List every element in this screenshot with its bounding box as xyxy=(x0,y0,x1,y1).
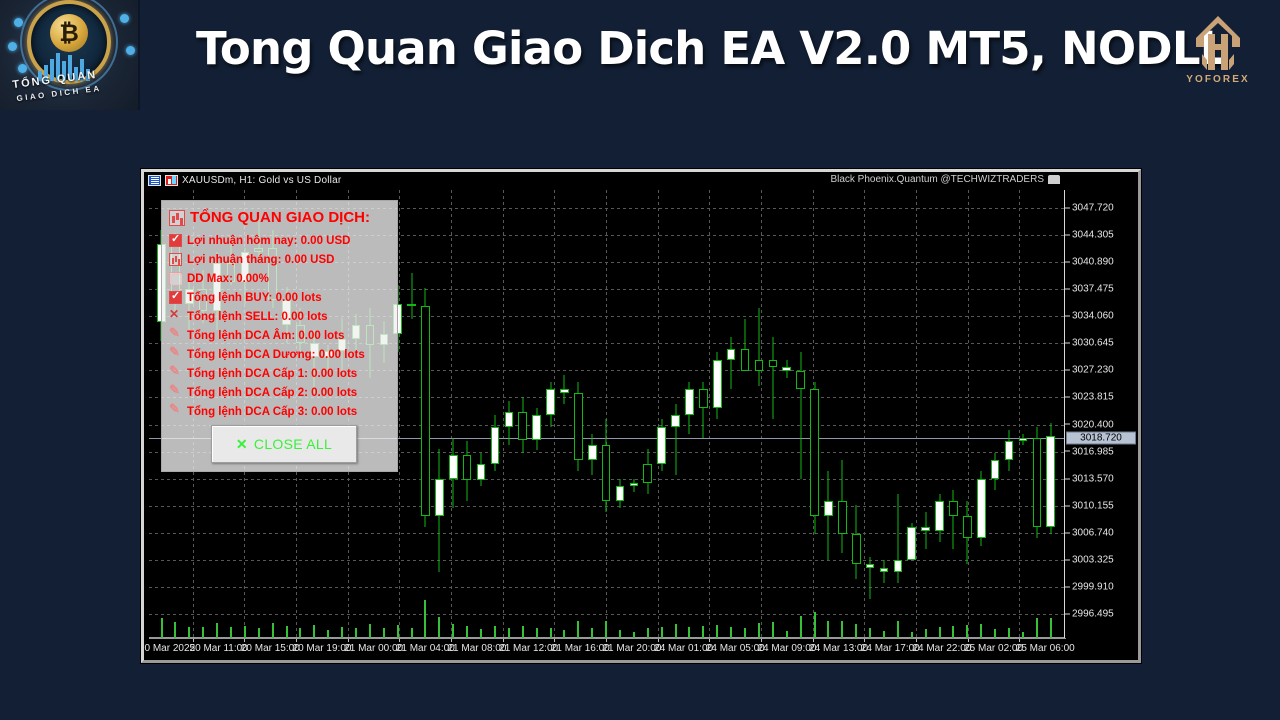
volume-bar xyxy=(688,627,690,638)
time-tick-mark xyxy=(916,639,917,642)
bar-chart-icon xyxy=(169,253,182,266)
chart-watermark-text: Black Phoenix.Quantum @TECHWIZTRADERS xyxy=(830,174,1044,185)
candlestick xyxy=(602,190,611,638)
time-tick-mark xyxy=(968,639,969,642)
price-tick-text: 3020.400 xyxy=(1072,419,1114,430)
candle-wick xyxy=(758,308,759,386)
volume-bar xyxy=(1036,618,1038,638)
candle-body xyxy=(477,464,486,480)
candlestick xyxy=(755,190,764,638)
price-tick-label: 3023.815 xyxy=(1065,392,1138,403)
price-tick-label: 3027.230 xyxy=(1065,365,1138,376)
yoforex-brand: YOFOREX xyxy=(1178,14,1258,92)
price-tick-text: 3044.305 xyxy=(1072,230,1114,241)
candle-wick xyxy=(828,471,829,560)
checkbox-checked-icon xyxy=(169,234,182,247)
candle-body xyxy=(1019,438,1028,442)
candlestick xyxy=(574,190,583,638)
bitcoin-icon: ₿ xyxy=(50,14,88,52)
ea-stat-row: Lợi nhuận hôm nay: 0.00 USD xyxy=(169,232,397,249)
volume-bar xyxy=(244,626,246,638)
candle-body xyxy=(421,306,430,516)
yoforex-wordmark: YOFOREX xyxy=(1178,74,1258,85)
candlestick xyxy=(713,190,722,638)
volume-bar xyxy=(536,628,538,638)
time-tick-label: 24 Mar 05:00 xyxy=(706,643,765,654)
time-tick-mark xyxy=(296,639,297,642)
volume-bar xyxy=(522,626,524,638)
candlestick xyxy=(630,190,639,638)
candlestick xyxy=(699,190,708,638)
volume-bar xyxy=(994,629,996,638)
time-tick-label: 21 Mar 16:00 xyxy=(551,643,610,654)
ea-stat-label: Tổng lệnh DCA Cấp 3: 0.00 lots xyxy=(187,406,357,418)
chart-list-icon[interactable] xyxy=(148,175,161,186)
candle-body xyxy=(949,501,958,516)
close-all-button[interactable]: ✕ CLOSE ALL xyxy=(211,425,357,463)
candle-body xyxy=(518,412,527,440)
candle-wick xyxy=(411,273,412,318)
volume-bar xyxy=(161,618,163,638)
volume-bar xyxy=(466,626,468,638)
candle-body xyxy=(880,568,889,572)
candle-body xyxy=(532,415,541,440)
candlestick xyxy=(588,190,597,638)
pencil-icon xyxy=(169,348,182,361)
price-tick-text: 3037.475 xyxy=(1072,284,1114,295)
volume-bar xyxy=(814,612,816,638)
price-tick-label: 3030.645 xyxy=(1065,338,1138,349)
ea-stat-row: Tổng lệnh DCA Cấp 1: 0.00 lots xyxy=(169,365,397,382)
candle-body xyxy=(449,455,458,479)
candle-body xyxy=(894,560,903,571)
price-tick-label: 3034.060 xyxy=(1065,311,1138,322)
close-all-label: CLOSE ALL xyxy=(254,436,332,452)
ea-stat-row: Tổng lệnh DCA Dương: 0.00 lots xyxy=(169,346,397,363)
volume-bar xyxy=(424,600,426,638)
volume-bar xyxy=(174,622,176,638)
volume-bar xyxy=(702,626,704,638)
volume-bar xyxy=(744,628,746,638)
ea-stat-row: Tổng lệnh BUY: 0.00 lots xyxy=(169,289,397,306)
price-tick-label: 2996.495 xyxy=(1065,609,1138,620)
volume-bar xyxy=(925,629,927,638)
ea-stat-row: Lợi nhuận tháng: 0.00 USD xyxy=(169,251,397,268)
candle-body xyxy=(838,501,847,534)
candle-body xyxy=(616,486,625,501)
price-tick-text: 3047.720 xyxy=(1072,203,1114,214)
volume-bar xyxy=(841,621,843,638)
volume-bar xyxy=(258,628,260,638)
time-tick-label: 20 Mar 2025 xyxy=(144,643,195,654)
price-tick-text: 3006.740 xyxy=(1072,527,1114,538)
time-tick-label: 20 Mar 11:00 xyxy=(190,643,248,654)
ea-stat-label: Tổng lệnh SELL: 0.00 lots xyxy=(187,311,328,323)
volume-bar xyxy=(897,621,899,638)
candlestick xyxy=(949,190,958,638)
price-tick-text: 2996.495 xyxy=(1072,609,1114,620)
volume-bar xyxy=(452,624,454,638)
time-tick-label: 25 Mar 06:00 xyxy=(1016,643,1075,654)
candlestick xyxy=(935,190,944,638)
volume-bar xyxy=(952,626,954,638)
candle-wick xyxy=(883,560,884,582)
candle-body xyxy=(1005,441,1014,460)
candlestick xyxy=(866,190,875,638)
price-tick-label: 3003.325 xyxy=(1065,554,1138,565)
time-tick-mark xyxy=(503,639,504,642)
candle-body xyxy=(866,564,875,568)
candle-body xyxy=(671,415,680,426)
candle-body xyxy=(463,455,472,480)
candlestick xyxy=(407,190,416,638)
time-tick-label: 24 Mar 13:00 xyxy=(809,643,868,654)
candle-body xyxy=(1046,436,1055,527)
candle-wick xyxy=(772,337,773,419)
candle-body xyxy=(407,304,416,306)
candle-body xyxy=(560,389,569,393)
candlestick xyxy=(421,190,430,638)
candle-body xyxy=(782,367,791,371)
candle-body xyxy=(1033,438,1042,527)
candlestick xyxy=(727,190,736,638)
candlestick xyxy=(796,190,805,638)
candlestick xyxy=(894,190,903,638)
price-tick-label: 3044.305 xyxy=(1065,230,1138,241)
time-tick-mark xyxy=(1019,639,1020,642)
volume-bar xyxy=(730,627,732,638)
candlestick xyxy=(907,190,916,638)
candlestick xyxy=(1033,190,1042,638)
candlestick xyxy=(963,190,972,638)
mt5-chart-window[interactable]: XAUUSDm, H1: Gold vs US Dollar Black Pho… xyxy=(141,169,1141,663)
ea-stat-rows: Lợi nhuận hôm nay: 0.00 USDLợi nhuận thá… xyxy=(162,232,397,420)
candle-body xyxy=(769,360,778,367)
volume-bar xyxy=(286,626,288,638)
ea-stat-label: Lợi nhuận tháng: 0.00 USD xyxy=(187,254,334,266)
time-tick-mark xyxy=(709,639,710,642)
volume-bar xyxy=(772,622,774,638)
time-tick-label: 21 Mar 00:00 xyxy=(344,643,403,654)
ea-stat-label: DD Max: 0.00% xyxy=(187,273,269,285)
price-tick-label: 3006.740 xyxy=(1065,527,1138,538)
volume-bar xyxy=(313,625,315,638)
ea-stat-row: Tổng lệnh DCA Cấp 3: 0.00 lots xyxy=(169,403,397,420)
volume-bar xyxy=(675,624,677,638)
candle-body xyxy=(699,389,708,408)
candlestick xyxy=(518,190,527,638)
time-tick-label: 25 Mar 02:00 xyxy=(964,643,1023,654)
candle-body xyxy=(963,516,972,538)
volume-bar xyxy=(1008,628,1010,638)
square-outline-icon xyxy=(169,272,182,285)
candle-body xyxy=(574,393,583,460)
ea-stat-label: Tổng lệnh DCA Âm: 0.00 lots xyxy=(187,330,344,342)
candle-body xyxy=(824,501,833,516)
chart-inner: XAUUSDm, H1: Gold vs US Dollar Black Pho… xyxy=(144,172,1138,660)
product-logo: ₿ TỔNG QUAN GIAO DICH EA xyxy=(0,0,140,110)
candle-wick xyxy=(731,337,732,389)
volume-bar xyxy=(786,631,788,638)
candle-body xyxy=(991,460,1000,479)
volume-bar xyxy=(716,625,718,638)
time-tick-mark xyxy=(554,639,555,642)
price-tick-text: 3027.230 xyxy=(1072,365,1114,376)
time-tick-label: 20 Mar 15:00 xyxy=(241,643,300,654)
candle-body xyxy=(852,534,861,564)
current-price-tag: 3018.720 xyxy=(1066,432,1136,445)
candle-body xyxy=(630,483,639,486)
time-tick-label: 24 Mar 22:00 xyxy=(912,643,971,654)
volume-bar xyxy=(619,630,621,638)
time-tick-label: 21 Mar 04:00 xyxy=(396,643,455,654)
price-tick-text: 2999.910 xyxy=(1072,581,1114,592)
volume-bar xyxy=(369,624,371,638)
candlestick xyxy=(810,190,819,638)
candlestick xyxy=(685,190,694,638)
volume-bar xyxy=(869,628,871,638)
watermark-badge-icon xyxy=(1048,175,1060,184)
candle-body xyxy=(921,527,930,531)
candle-wick xyxy=(953,490,954,549)
volume-series xyxy=(149,592,1066,638)
candlestick xyxy=(1019,190,1028,638)
candle-body xyxy=(685,389,694,415)
price-tick-label: 3040.890 xyxy=(1065,257,1138,268)
candlestick xyxy=(657,190,666,638)
time-tick-label: 21 Mar 20:00 xyxy=(602,643,661,654)
volume-bar xyxy=(299,628,301,638)
price-tick-text: 3003.325 xyxy=(1072,554,1114,565)
time-tick-mark xyxy=(864,639,865,642)
candlestick xyxy=(643,190,652,638)
chart-candles-icon[interactable] xyxy=(165,175,178,186)
candlestick xyxy=(560,190,569,638)
candlestick xyxy=(505,190,514,638)
pencil-icon xyxy=(169,367,182,380)
candle-body xyxy=(657,427,666,464)
volume-bar xyxy=(480,629,482,638)
candlestick xyxy=(532,190,541,638)
x-mark-icon: ✕ xyxy=(236,436,248,453)
candlestick xyxy=(824,190,833,638)
bar-chart-icon xyxy=(169,210,185,226)
price-tick-text: 3040.890 xyxy=(1072,257,1114,268)
time-tick-label: 20 Mar 19:00 xyxy=(293,643,352,654)
price-tick-text: 3016.985 xyxy=(1072,446,1114,457)
pencil-icon xyxy=(169,329,182,342)
ea-stat-label: Tổng lệnh DCA Dương: 0.00 lots xyxy=(187,349,365,361)
candle-body xyxy=(977,479,986,538)
price-tick-label: 3010.155 xyxy=(1065,500,1138,511)
time-tick-label: 24 Mar 01:00 xyxy=(654,643,713,654)
volume-bar xyxy=(508,628,510,638)
time-tick-label: 24 Mar 09:00 xyxy=(757,643,816,654)
candlestick xyxy=(1046,190,1055,638)
candlestick xyxy=(671,190,680,638)
page-header: ₿ TỔNG QUAN GIAO DICH EA Tong Quan Giao … xyxy=(0,0,1280,110)
ea-stat-label: Tổng lệnh DCA Cấp 1: 0.00 lots xyxy=(187,368,357,380)
volume-bar xyxy=(494,626,496,638)
price-tick-text: 3030.645 xyxy=(1072,338,1114,349)
volume-bar xyxy=(397,625,399,638)
candlestick xyxy=(782,190,791,638)
time-tick-mark xyxy=(399,639,400,642)
candlestick xyxy=(852,190,861,638)
volume-bar xyxy=(272,623,274,638)
yoforex-logo-icon xyxy=(1178,14,1258,72)
candlestick xyxy=(546,190,555,638)
volume-bar xyxy=(966,625,968,638)
candlestick xyxy=(977,190,986,638)
candlestick xyxy=(769,190,778,638)
ea-stat-row: DD Max: 0.00% xyxy=(169,270,397,287)
candle-body xyxy=(755,360,764,371)
volume-bar xyxy=(827,621,829,638)
ea-stat-row: Tổng lệnh SELL: 0.00 lots xyxy=(169,308,397,325)
candlestick xyxy=(741,190,750,638)
candle-body xyxy=(810,389,819,515)
ea-stat-label: Tổng lệnh DCA Cấp 2: 0.00 lots xyxy=(187,387,357,399)
volume-bar xyxy=(341,627,343,638)
candle-body xyxy=(505,412,514,427)
candlestick xyxy=(477,190,486,638)
volume-bar xyxy=(800,616,802,638)
page-title: Tong Quan Giao Dich EA V2.0 MT5, NODLL xyxy=(196,22,1228,75)
volume-bar xyxy=(661,627,663,638)
candlestick xyxy=(838,190,847,638)
time-tick-mark xyxy=(451,639,452,642)
time-tick-label: 24 Mar 17:00 xyxy=(861,643,920,654)
price-tick-label: 3047.720 xyxy=(1065,203,1138,214)
price-tick-label: 2999.910 xyxy=(1065,581,1138,592)
chart-watermark: Black Phoenix.Quantum @TECHWIZTRADERS xyxy=(830,174,1060,185)
x-mark-icon xyxy=(169,310,182,323)
ea-stat-label: Tổng lệnh BUY: 0.00 lots xyxy=(187,292,322,304)
candle-body xyxy=(602,445,611,501)
time-tick-mark xyxy=(348,639,349,642)
volume-bar xyxy=(355,628,357,638)
ea-stat-row: Tổng lệnh DCA Cấp 2: 0.00 lots xyxy=(169,384,397,401)
time-tick-label: 21 Mar 12:00 xyxy=(499,643,558,654)
ea-panel-title: TỔNG QUAN GIAO DỊCH: xyxy=(169,209,397,226)
volume-bar xyxy=(216,623,218,638)
time-tick-mark xyxy=(193,639,194,642)
volume-bar xyxy=(939,627,941,638)
chart-symbol-label: XAUUSDm, H1: Gold vs US Dollar xyxy=(182,172,341,189)
price-axis[interactable]: 3018.720 3047.7203044.3053040.8903037.47… xyxy=(1064,190,1138,638)
volume-bar xyxy=(591,628,593,638)
candle-body xyxy=(741,349,750,371)
price-tick-label: 3020.400 xyxy=(1065,419,1138,430)
volume-bar xyxy=(605,621,607,638)
volume-bar xyxy=(883,631,885,638)
time-tick-mark xyxy=(244,639,245,642)
candlestick xyxy=(435,190,444,638)
volume-bar xyxy=(411,628,413,638)
checkbox-checked-icon xyxy=(169,291,182,304)
volume-bar xyxy=(230,627,232,638)
candlestick xyxy=(491,190,500,638)
candle-body xyxy=(546,389,555,415)
ea-panel-title-text: TỔNG QUAN GIAO DỊCH: xyxy=(190,209,370,226)
price-tick-text: 3010.155 xyxy=(1072,500,1114,511)
price-tick-label: 3037.475 xyxy=(1065,284,1138,295)
price-tick-text: 3023.815 xyxy=(1072,392,1114,403)
time-tick-label: 21 Mar 08:00 xyxy=(448,643,507,654)
price-tick-label: 3013.570 xyxy=(1065,473,1138,484)
candle-body xyxy=(643,464,652,483)
ea-stat-label: Lợi nhuận hôm nay: 0.00 USD xyxy=(187,235,350,247)
candle-body xyxy=(727,349,736,360)
pencil-icon xyxy=(169,386,182,399)
time-tick-mark xyxy=(606,639,607,642)
time-tick-mark xyxy=(761,639,762,642)
candle-body xyxy=(435,479,444,516)
candle-body xyxy=(907,527,916,560)
candle-body xyxy=(491,427,500,464)
volume-bar xyxy=(980,624,982,639)
time-axis[interactable]: 20 Mar 202520 Mar 11:0020 Mar 15:0020 Ma… xyxy=(149,638,1066,660)
volume-bar xyxy=(202,627,204,638)
candle-body xyxy=(713,360,722,408)
volume-bar xyxy=(855,624,857,639)
candlestick xyxy=(921,190,930,638)
ea-dashboard-panel[interactable]: TỔNG QUAN GIAO DỊCH: Lợi nhuận hôm nay: … xyxy=(161,200,398,472)
volume-bar xyxy=(188,627,190,638)
volume-bar xyxy=(550,628,552,638)
volume-bar xyxy=(327,630,329,638)
time-tick-mark xyxy=(813,639,814,642)
candle-body xyxy=(796,371,805,390)
candlestick xyxy=(880,190,889,638)
volume-bar xyxy=(647,628,649,638)
volume-bar xyxy=(383,628,385,638)
price-tick-text: 3034.060 xyxy=(1072,311,1114,322)
volume-bar xyxy=(1050,618,1052,638)
candle-wick xyxy=(925,512,926,549)
volume-bar xyxy=(438,617,440,638)
candle-body xyxy=(588,445,597,460)
candlestick xyxy=(991,190,1000,638)
price-tick-label: 3016.985 xyxy=(1065,446,1138,457)
volume-bar xyxy=(758,623,760,638)
volume-bar xyxy=(577,621,579,638)
ea-stat-row: Tổng lệnh DCA Âm: 0.00 lots xyxy=(169,327,397,344)
candlestick xyxy=(463,190,472,638)
pencil-icon xyxy=(169,405,182,418)
time-tick-mark xyxy=(658,639,659,642)
price-tick-text: 3013.570 xyxy=(1072,473,1114,484)
volume-bar xyxy=(563,630,565,638)
candlestick xyxy=(616,190,625,638)
candle-body xyxy=(935,501,944,531)
candlestick xyxy=(1005,190,1014,638)
candlestick xyxy=(449,190,458,638)
